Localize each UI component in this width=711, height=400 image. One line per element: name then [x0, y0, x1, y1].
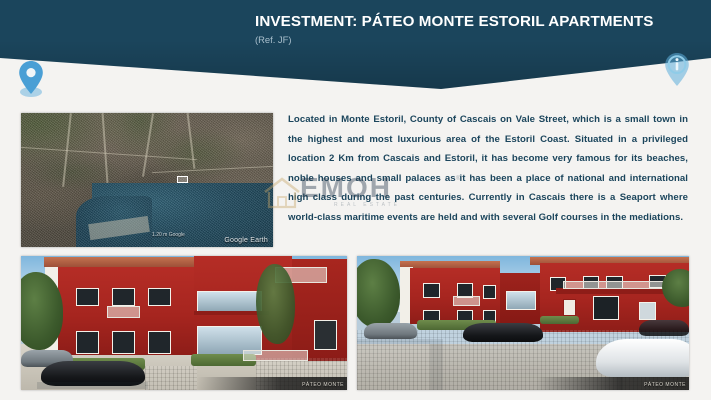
map-location-marker — [177, 176, 188, 183]
photo-credit-label: PÁTEO MONTE — [302, 382, 344, 388]
map-credit-label: Google Earth — [224, 237, 268, 244]
header-text-group: INVESTMENT: PÁTEO MONTE ESTORIL APARTMEN… — [255, 13, 675, 46]
presentation-slide: INVESTMENT: PÁTEO MONTE ESTORIL APARTMEN… — [0, 0, 711, 400]
reference-label: (Ref. JF) — [255, 33, 675, 46]
info-pin-icon — [661, 50, 693, 90]
property-description: Located in Monte Estoril, County of Casc… — [288, 110, 688, 228]
page-title: INVESTMENT: PÁTEO MONTE ESTORIL APARTMEN… — [255, 13, 675, 31]
location-pin-icon — [15, 58, 47, 98]
photo-credit-label: PÁTEO MONTE — [644, 382, 686, 388]
satellite-map-image: 1.20 m Google Google Earth — [21, 113, 273, 247]
apartment-exterior-courtyard-photo: PÁTEO MONTE — [357, 256, 689, 390]
apartment-exterior-front-photo: PÁTEO MONTE — [21, 256, 347, 390]
map-scale-label: 1.20 m Google — [152, 232, 185, 238]
